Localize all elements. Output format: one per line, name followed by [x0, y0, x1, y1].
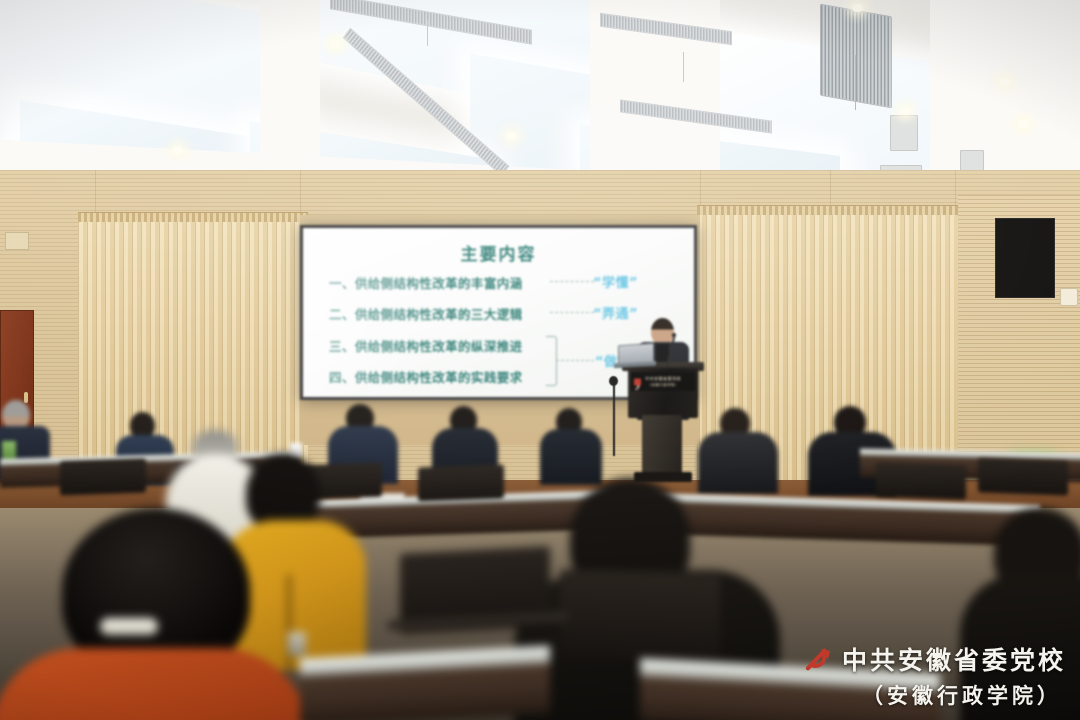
ceiling-wire [855, 55, 856, 110]
person-body [0, 648, 310, 720]
connector-line-1 [550, 281, 594, 282]
lecture-hall-photo: 安全出口 主要内容 一、供给侧结构性改革的丰富内涵 二、供给侧结构性改革的三大逻… [0, 0, 1080, 720]
podium-plaque: 中共安徽省委党校 （安徽行政学院） [631, 372, 695, 391]
slide-bullet-2-text: 供给侧结构性改革的三大逻辑 [355, 307, 523, 322]
connector-line-3 [556, 360, 594, 361]
slide-bullet-2-number: 二、 [329, 307, 355, 322]
slide-title: 主要内容 [303, 240, 694, 265]
white-bow-hair-clip [100, 618, 158, 635]
podium-plaque-line1: 中共安徽省委党校 [645, 376, 681, 382]
foreground-person-edge-right [960, 508, 1080, 720]
slide-bullet-3-text: 供给侧结构性改革的纵深推进 [355, 339, 523, 354]
slide-bullet-4-number: 四、 [329, 370, 355, 385]
connector-brace-34 [546, 336, 557, 386]
party-emblem-icon [634, 378, 641, 385]
slide-bullet-2: 二、供给侧结构性改革的三大逻辑 [329, 304, 523, 323]
ceiling-spotlight [506, 132, 517, 140]
slide-bullet-3: 三、供给侧结构性改革的纵深推进 [329, 336, 523, 355]
ceiling-speaker [890, 115, 918, 151]
chair-foreground [560, 569, 720, 661]
slide-bullet-4: 四、供给侧结构性改革的实践要求 [329, 367, 523, 386]
microphone-head [672, 333, 676, 337]
ceiling-spotlight [1018, 120, 1029, 128]
ceiling-wire [427, 20, 428, 46]
slide-bullet-3-number: 三、 [329, 339, 355, 354]
wall-display-panel [995, 218, 1055, 298]
cup-foreground [288, 632, 306, 656]
wall-sign [1060, 288, 1078, 306]
podium-plaque-line2: （安徽行政学院） [647, 383, 678, 388]
floor-mic-head [609, 376, 618, 386]
person-body [960, 574, 1080, 720]
ceiling-spotlight [172, 146, 183, 154]
slide-annotation-1: “学懂” [593, 272, 638, 291]
slide-bullet-4-text: 供给侧结构性改革的实践要求 [355, 370, 523, 385]
ceiling-spotlight [330, 40, 341, 48]
connector-line-2 [550, 312, 594, 313]
ceiling-wire [683, 52, 684, 82]
ceiling-spotlight [852, 4, 863, 12]
front-row-person-bow-clip [20, 508, 290, 720]
wall-plate [5, 232, 29, 250]
speaker-head [651, 318, 674, 345]
slide-bullet-1: 一、供给侧结构性改革的丰富内涵 [329, 273, 523, 292]
foreground-audience [0, 430, 1080, 720]
slide-bullet-1-number: 一、 [329, 276, 355, 291]
ceiling-spotlight [900, 107, 911, 115]
ceiling-spotlight [1000, 78, 1011, 86]
ac-grille [820, 4, 892, 109]
slide-bullet-1-text: 供给侧结构性改革的丰富内涵 [355, 276, 523, 291]
